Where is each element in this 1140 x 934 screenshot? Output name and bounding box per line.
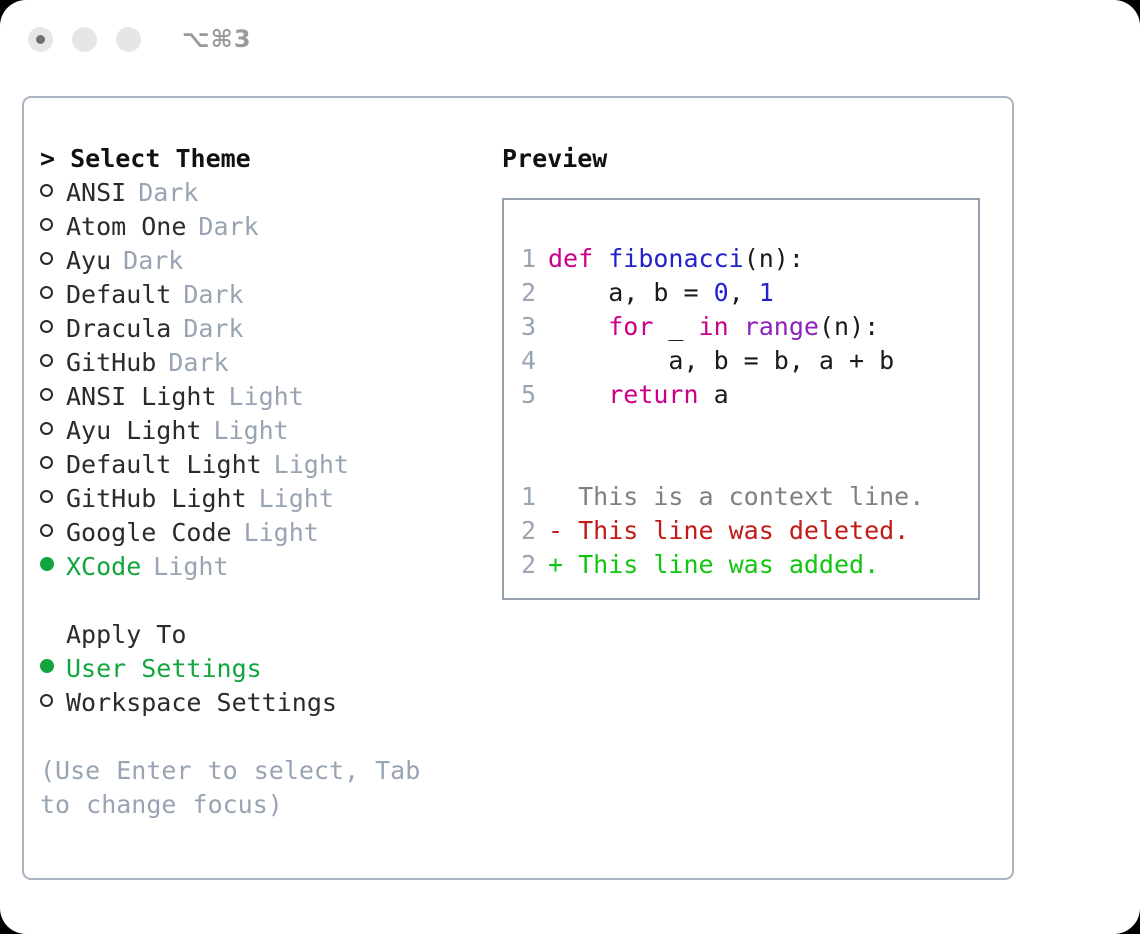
code-diff-separator <box>504 412 978 446</box>
code-diff-separator-2 <box>504 446 978 480</box>
apply-to-header: Apply To <box>40 618 502 652</box>
line-number: 2 <box>504 514 548 548</box>
preview-box: 1def fibonacci(n):2 a, b = 0, 13 for _ i… <box>502 198 980 600</box>
radio-unselected-icon <box>40 354 53 367</box>
apply-to-radio <box>40 686 66 720</box>
window-button-close[interactable] <box>28 27 53 52</box>
code-token: def <box>548 244 608 273</box>
code-token: _ <box>653 312 698 341</box>
code-token: 1 <box>759 278 774 307</box>
diff-line-content: - This line was deleted. <box>548 514 909 548</box>
code-token: for <box>608 312 653 341</box>
theme-radio <box>40 550 66 584</box>
window-button-minimize[interactable] <box>72 27 97 52</box>
preview-title: Preview <box>502 142 1012 176</box>
code-line: 3 for _ in range(n): <box>504 310 978 344</box>
theme-option-label: Atom One <box>66 210 186 244</box>
keyboard-hint: (Use Enter to select, Tab to change focu… <box>40 754 450 822</box>
theme-radio <box>40 482 66 516</box>
theme-radio <box>40 414 66 448</box>
line-number: 3 <box>504 310 548 344</box>
theme-variant-badge: Dark <box>123 244 183 278</box>
apply-to-option-label: User Settings <box>66 652 262 686</box>
diff-line-del: 2- This line was deleted. <box>504 514 978 548</box>
theme-variant-badge: Light <box>259 482 334 516</box>
code-token: , <box>729 278 759 307</box>
code-line: 2 a, b = 0, 1 <box>504 276 978 310</box>
window-button-maximize[interactable] <box>116 27 141 52</box>
theme-radio <box>40 346 66 380</box>
select-theme-header: > Select Theme <box>40 142 502 176</box>
radio-unselected-icon <box>40 184 53 197</box>
diff-line-content: This is a context line. <box>548 480 924 514</box>
line-number: 1 <box>504 480 548 514</box>
theme-option-ansi[interactable]: ANSIDark <box>40 176 502 210</box>
code-token: a <box>699 380 729 409</box>
line-number: 2 <box>504 548 548 582</box>
radio-unselected-icon <box>40 252 53 265</box>
theme-option-ayu-light[interactable]: Ayu LightLight <box>40 414 502 448</box>
line-number: 2 <box>504 276 548 310</box>
theme-variant-badge: Light <box>153 550 228 584</box>
theme-option-label: Ayu <box>66 244 111 278</box>
radio-unselected-icon <box>40 286 53 299</box>
apply-to-list: User SettingsWorkspace Settings <box>40 652 502 720</box>
code-token: return <box>608 380 698 409</box>
code-token: (n): <box>819 312 879 341</box>
code-line-content: a, b = b, a + b <box>548 344 894 378</box>
code-line-content: return a <box>548 378 729 412</box>
code-token: range <box>744 312 819 341</box>
theme-option-atom-one[interactable]: Atom OneDark <box>40 210 502 244</box>
theme-option-dracula[interactable]: DraculaDark <box>40 312 502 346</box>
theme-variant-badge: Dark <box>183 312 243 346</box>
code-token: 0 <box>714 278 729 307</box>
active-dot-icon <box>36 35 45 44</box>
theme-variant-badge: Dark <box>183 278 243 312</box>
theme-option-default-light[interactable]: Default LightLight <box>40 448 502 482</box>
theme-picker-panel: > Select Theme ANSIDarkAtom OneDarkAyuDa… <box>40 142 502 822</box>
radio-unselected-icon <box>40 422 53 435</box>
code-line-content: def fibonacci(n): <box>548 242 804 276</box>
theme-variant-badge: Dark <box>168 346 228 380</box>
radio-unselected-icon <box>40 524 53 537</box>
diff-sample: 1 This is a context line.2- This line wa… <box>504 480 978 582</box>
apply-to-option-user-settings[interactable]: User Settings <box>40 652 502 686</box>
line-number: 5 <box>504 378 548 412</box>
theme-variant-badge: Light <box>229 380 304 414</box>
theme-option-ansi-light[interactable]: ANSI LightLight <box>40 380 502 414</box>
theme-radio <box>40 516 66 550</box>
theme-variant-badge: Dark <box>138 176 198 210</box>
theme-variant-badge: Light <box>213 414 288 448</box>
theme-variant-badge: Light <box>274 448 349 482</box>
theme-option-xcode[interactable]: XCodeLight <box>40 550 502 584</box>
radio-selected-icon <box>40 557 54 571</box>
theme-option-label: Dracula <box>66 312 171 346</box>
apply-to-radio <box>40 652 66 686</box>
code-sample: 1def fibonacci(n):2 a, b = 0, 13 for _ i… <box>504 242 978 412</box>
preview-panel: Preview 1def fibonacci(n):2 a, b = 0, 13… <box>502 142 1012 822</box>
theme-radio <box>40 278 66 312</box>
code-token: (n): <box>744 244 804 273</box>
theme-variant-badge: Light <box>244 516 319 550</box>
diff-line-ctx: 1 This is a context line. <box>504 480 978 514</box>
radio-unselected-icon <box>40 388 53 401</box>
app-window: ⌥⌘3 > Select Theme ANSIDarkAtom OneDarkA… <box>0 0 1140 934</box>
theme-radio <box>40 448 66 482</box>
theme-option-label: XCode <box>66 550 141 584</box>
theme-option-label: Default <box>66 278 171 312</box>
line-number: 1 <box>504 242 548 276</box>
code-line-content: for _ in range(n): <box>548 310 879 344</box>
theme-radio <box>40 312 66 346</box>
code-token: in <box>699 312 729 341</box>
code-token <box>729 312 744 341</box>
code-line: 4 a, b = b, a + b <box>504 344 978 378</box>
theme-option-google-code[interactable]: Google CodeLight <box>40 516 502 550</box>
theme-option-label: GitHub <box>66 346 156 380</box>
theme-option-github[interactable]: GitHubDark <box>40 346 502 380</box>
theme-option-label: Google Code <box>66 516 232 550</box>
theme-radio <box>40 176 66 210</box>
theme-option-ayu[interactable]: AyuDark <box>40 244 502 278</box>
theme-radio <box>40 210 66 244</box>
theme-option-label: Default Light <box>66 448 262 482</box>
theme-option-label: Ayu Light <box>66 414 201 448</box>
theme-settings-card: > Select Theme ANSIDarkAtom OneDarkAyuDa… <box>22 96 1014 880</box>
code-line: 1def fibonacci(n): <box>504 242 978 276</box>
theme-radio <box>40 380 66 414</box>
code-token: a, b = b, a + b <box>548 346 894 375</box>
section-spacer <box>40 584 502 618</box>
theme-variant-badge: Dark <box>198 210 258 244</box>
radio-unselected-icon <box>40 218 53 231</box>
title-bar: ⌥⌘3 <box>0 0 1140 78</box>
theme-list: ANSIDarkAtom OneDarkAyuDarkDefaultDarkDr… <box>40 176 502 584</box>
apply-to-option-label: Workspace Settings <box>66 686 337 720</box>
theme-option-github-light[interactable]: GitHub LightLight <box>40 482 502 516</box>
radio-unselected-icon <box>40 320 53 333</box>
theme-option-label: GitHub Light <box>66 482 247 516</box>
hint-spacer <box>40 720 502 754</box>
radio-unselected-icon <box>40 490 53 503</box>
code-token: a, b = <box>548 278 714 307</box>
theme-option-default[interactable]: DefaultDark <box>40 278 502 312</box>
theme-option-label: ANSI Light <box>66 380 217 414</box>
theme-radio <box>40 244 66 278</box>
code-token <box>548 380 608 409</box>
keyboard-shortcut-label: ⌥⌘3 <box>182 25 252 53</box>
radio-selected-icon <box>40 659 54 673</box>
code-token <box>548 312 608 341</box>
code-token: fibonacci <box>608 244 743 273</box>
diff-line-content: + This line was added. <box>548 548 879 582</box>
radio-unselected-icon <box>40 694 53 707</box>
line-number: 4 <box>504 344 548 378</box>
code-line: 5 return a <box>504 378 978 412</box>
apply-to-option-workspace-settings[interactable]: Workspace Settings <box>40 686 502 720</box>
window-controls <box>28 27 141 52</box>
code-line-content: a, b = 0, 1 <box>548 276 774 310</box>
radio-unselected-icon <box>40 456 53 469</box>
theme-option-label: ANSI <box>66 176 126 210</box>
diff-line-add: 2+ This line was added. <box>504 548 978 582</box>
